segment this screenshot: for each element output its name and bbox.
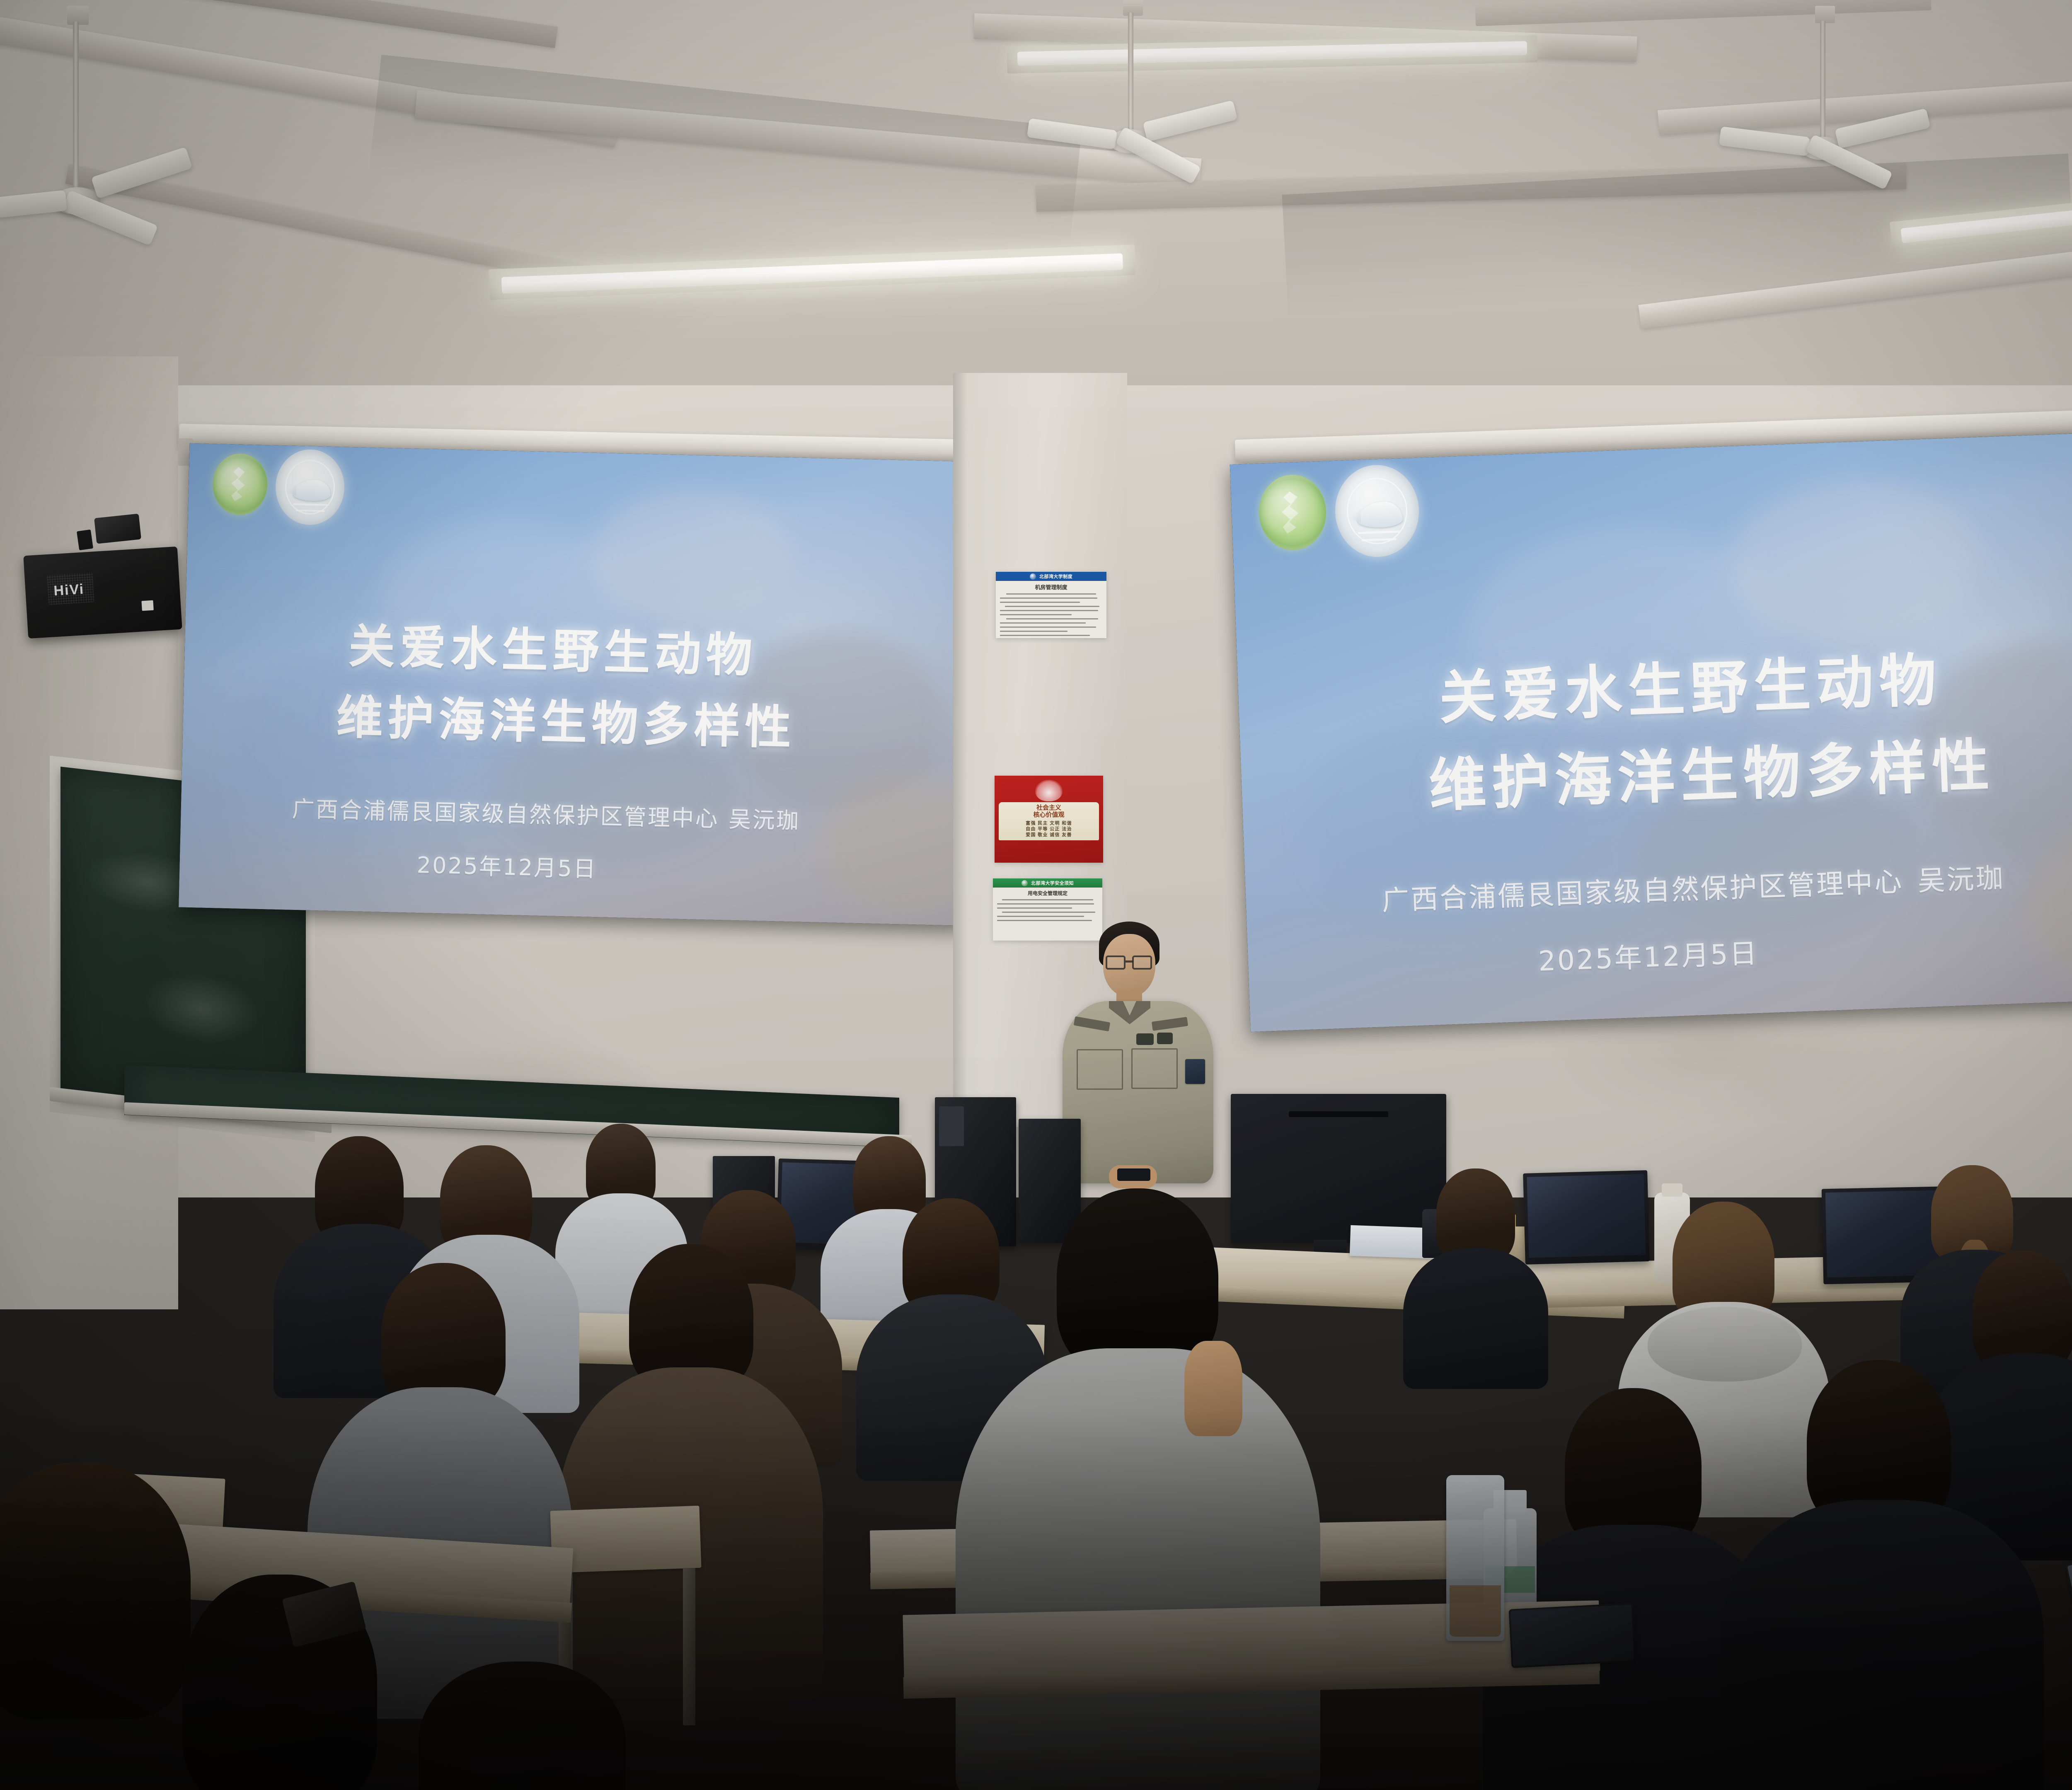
dugong-illustration	[293, 479, 331, 501]
presenter-sleeve-patch	[1185, 1059, 1205, 1084]
slide-title-line-2: 维护海洋生物多样性	[1427, 718, 1996, 822]
slide-title-line-2: 维护海洋生物多样性	[336, 680, 796, 757]
poster-management[interactable]: 北部湾大学制度 机房管理制度	[996, 572, 1106, 638]
hoodie-hood	[1648, 1307, 1802, 1381]
bottle-liquid	[1450, 1585, 1501, 1637]
core-values-title-1: 社会主义	[1000, 805, 1097, 812]
student-body	[956, 1348, 1320, 1790]
poster-management-header: 北部湾大学制度	[996, 572, 1106, 581]
presenter-glasses-right-lens	[1132, 955, 1152, 970]
poster-management-body: 机房管理制度	[996, 581, 1106, 638]
classroom-photo: HiVi 关爱水生野生动物	[0, 0, 2072, 1790]
dugong-reserve-emblem	[1334, 464, 1421, 559]
fan-rod	[1128, 12, 1133, 137]
core-values-row-1: 富强 民主 文明 和谐	[1000, 820, 1097, 826]
slide-title-line-1: 关爱水生野生动物	[348, 609, 758, 685]
pillar-edge-shadow	[953, 373, 967, 1127]
university-logo-icon	[1021, 880, 1028, 886]
monitor-screen	[1527, 1174, 1646, 1258]
core-values-row-2: 自由 平等 公正 法治	[1000, 826, 1097, 832]
core-values-row-3: 爱国 敬业 诚信 友善	[1000, 832, 1097, 838]
speaker-bracket	[77, 530, 93, 550]
poster-safety-header: 北部湾大学安全须知	[993, 878, 1102, 888]
monitor-rear-vent	[1289, 1111, 1388, 1117]
student-body	[1721, 1500, 2044, 1790]
slide-date: 2025年12月5日	[416, 847, 598, 883]
poster-safety-header-text: 北部湾大学安全须知	[1031, 880, 1074, 886]
presenter-pocket-left	[1077, 1049, 1123, 1090]
student-head	[0, 1463, 191, 1720]
core-values-plaque: 社会主义 核心价值观 富强 民主 文明 和谐 自由 平等 公正 法治 爱国 敬业…	[999, 802, 1099, 840]
fan-rod	[1820, 21, 1825, 145]
core-values-emblem-icon	[1035, 780, 1063, 801]
presenter-uniform-shirt	[1063, 1001, 1213, 1183]
presenter-chest-badge-2	[1157, 1033, 1173, 1044]
fan-rod	[73, 22, 79, 196]
presenter-chest-badge-1	[1136, 1033, 1154, 1045]
dugong-reserve-emblem	[275, 449, 345, 526]
green-reserve-emblem	[212, 453, 268, 515]
presenter-remote[interactable]	[1117, 1168, 1150, 1181]
speaker-port-label	[141, 600, 153, 611]
pc-tower-panel	[939, 1106, 964, 1146]
core-values-title-2: 核心价值观	[1000, 812, 1097, 819]
poster-management-text-lines	[996, 591, 1106, 641]
presenter-glasses-left-lens	[1106, 955, 1126, 970]
desktop-monitor	[1231, 1094, 1446, 1243]
poster-management-title: 机房管理制度	[996, 581, 1106, 591]
poster-safety-title: 用电安全管理规定	[993, 888, 1102, 897]
green-reserve-emblem	[1258, 474, 1328, 552]
smartphone[interactable]	[1508, 1603, 1636, 1668]
university-logo-icon	[1030, 573, 1036, 580]
bottle-cap	[1662, 1183, 1682, 1197]
right-screen-slide: 关爱水生野生动物 维护海洋生物多样性 广西合浦儒艮国家级自然保护区管理中心 吴沅…	[1230, 429, 2072, 1032]
right-screen[interactable]: 关爱水生野生动物 维护海洋生物多样性 广西合浦儒艮国家级自然保护区管理中心 吴沅…	[1230, 429, 2072, 1032]
wall-speaker: HiVi	[23, 547, 182, 639]
desktop-monitor	[1523, 1170, 1650, 1265]
chair-frame	[683, 1568, 695, 1725]
presenter-pocket-right	[1131, 1048, 1178, 1089]
slide-presenter: 吴沅珈	[729, 801, 801, 835]
slide-date: 2025年12月5日	[1537, 931, 1759, 979]
chair-back	[550, 1506, 701, 1573]
left-screen[interactable]: 关爱水生野生动物 维护海洋生物多样性 广西合浦儒艮国家级自然保护区管理中心 吴沅…	[179, 443, 977, 926]
smartphone-screen	[1510, 1604, 1634, 1666]
speaker-brand-label: HiVi	[53, 581, 85, 599]
presenter-glasses-bridge	[1126, 960, 1133, 963]
left-screen-slide: 关爱水生野生动物 维护海洋生物多样性 广西合浦儒艮国家级自然保护区管理中心 吴沅…	[179, 443, 977, 926]
dugong-illustration	[1357, 501, 1403, 528]
student-hand-at-face	[1184, 1341, 1242, 1436]
cctv-camera	[94, 514, 141, 544]
slide-presenter: 吴沅珈	[1917, 856, 2005, 899]
poster-core-values[interactable]: 社会主义 核心价值观 富强 民主 文明 和谐 自由 平等 公正 法治 爱国 敬业…	[995, 776, 1103, 863]
student-body	[1403, 1248, 1548, 1389]
poster-management-header-text: 北部湾大学制度	[1039, 573, 1072, 580]
